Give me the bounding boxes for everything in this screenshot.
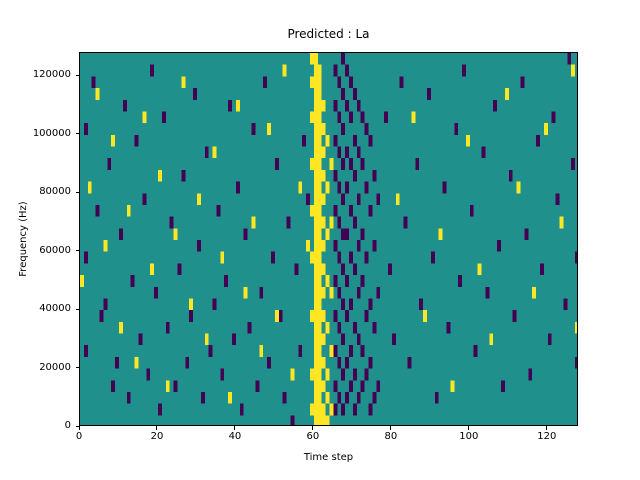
y-tick-mark [76,309,80,310]
x-tick-label: 80 [361,431,421,443]
y-tick-label: 20000 [0,362,71,374]
x-tick-mark [234,426,235,430]
y-axis-label: Frequency (Hz) [18,179,30,299]
y-tick-mark [76,426,80,427]
x-tick-mark [546,426,547,430]
matplotlib-figure: Predicted : La 020406080100120 020000400… [0,0,640,480]
y-tick-label: 100000 [0,128,71,140]
x-axis-label: Time step [79,452,578,464]
x-tick-label: 40 [205,431,265,443]
y-tick-label: 120000 [0,69,71,81]
y-tick-mark [76,192,80,193]
x-tick-label: 100 [439,431,499,443]
y-tick-label: 0 [0,420,71,432]
x-tick-label: 120 [517,431,577,443]
x-tick-mark [156,426,157,430]
x-tick-mark [468,426,469,430]
y-tick-label: 60000 [0,245,71,257]
y-tick-label: 40000 [0,303,71,315]
heatmap-axes [79,52,578,426]
x-tick-mark [390,426,391,430]
y-tick-mark [76,250,80,251]
y-tick-mark [76,133,80,134]
y-tick-label: 80000 [0,186,71,198]
heatmap-image [80,53,578,426]
x-tick-label: 0 [49,431,109,443]
x-tick-label: 20 [127,431,187,443]
y-tick-mark [76,75,80,76]
x-tick-mark [312,426,313,430]
x-tick-label: 60 [283,431,343,443]
x-tick-mark [79,426,80,430]
y-tick-mark [76,367,80,368]
page-title: Predicted : La [79,27,578,41]
